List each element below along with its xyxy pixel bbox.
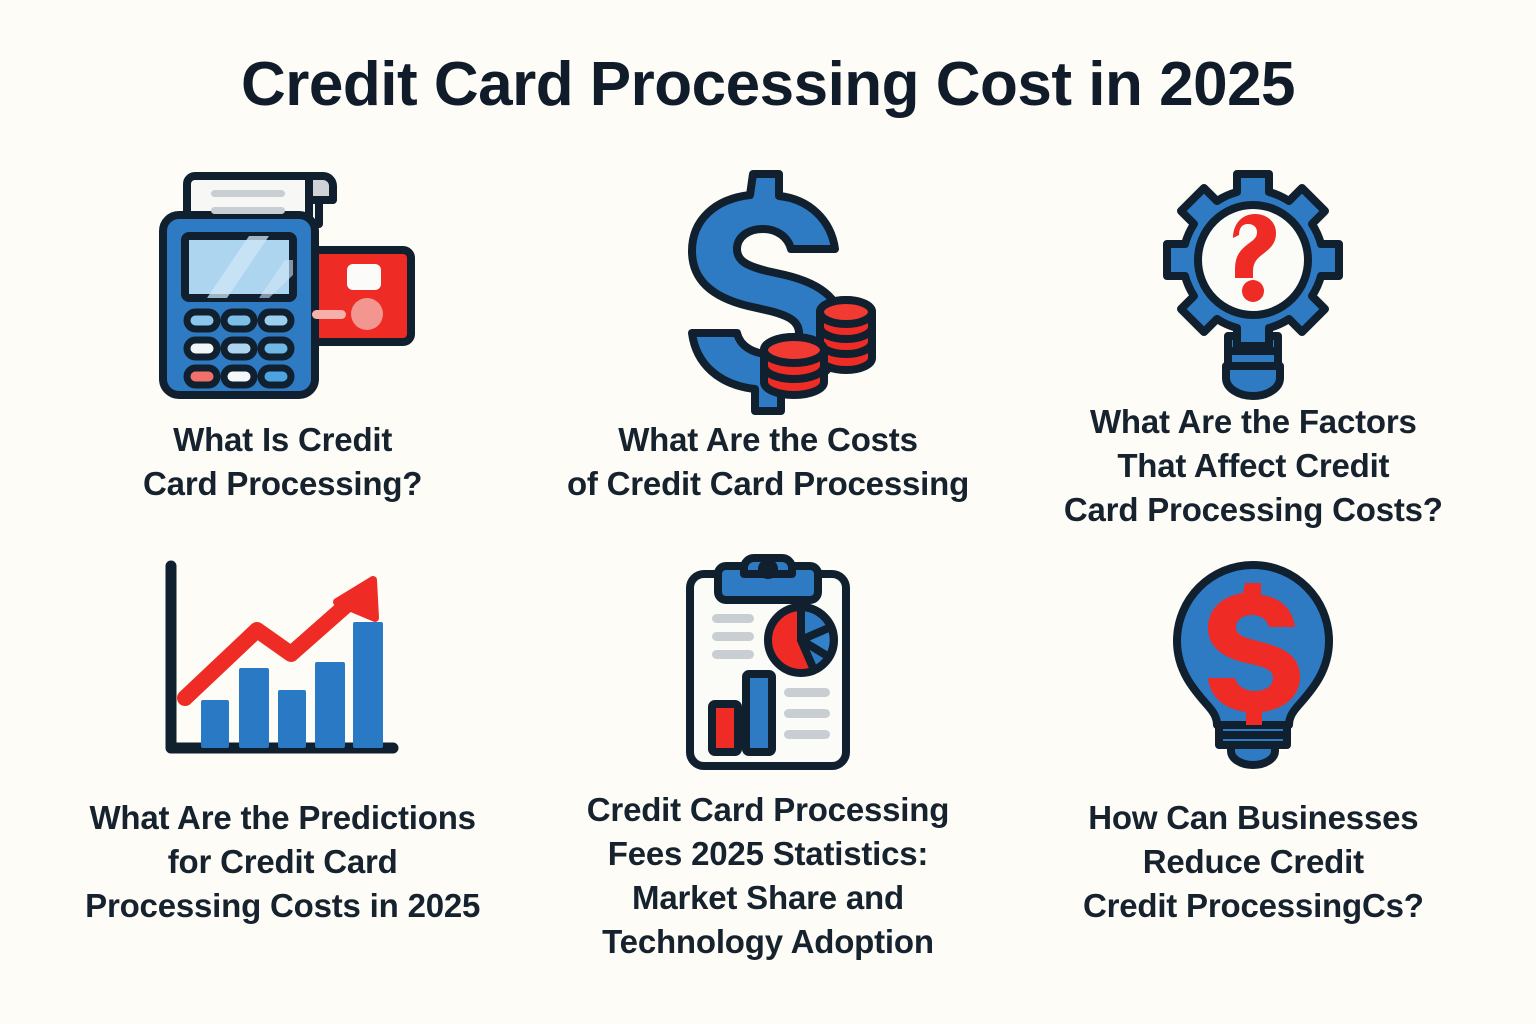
dollar-sign-coins-icon xyxy=(642,160,894,410)
topic-caption: What Are the Costs of Credit Card Proces… xyxy=(567,418,969,506)
caption-line: Technology Adoption xyxy=(587,920,949,964)
topic-card-what-is-credit-card-processing[interactable]: What Is Credit Card Processing? xyxy=(40,160,525,550)
lightbulb-dollar-sign-icon xyxy=(1161,550,1345,780)
caption-line: Card Processing Costs? xyxy=(1064,488,1443,532)
topic-card-costs-of-credit-card-processing[interactable]: What Are the Costs of Credit Card Proces… xyxy=(525,160,1010,550)
growth-bar-chart-arrow-icon xyxy=(145,550,421,780)
caption-line: Fees 2025 Statistics: xyxy=(587,832,949,876)
infographic-canvas: Credit Card Processing Cost in 2025 xyxy=(0,0,1536,1024)
clipboard-report-pie-chart-icon xyxy=(668,550,868,780)
topic-card-factors-affecting-costs[interactable]: What Are the Factors That Affect Credit … xyxy=(1011,160,1496,550)
pos-terminal-credit-card-icon xyxy=(149,160,417,410)
topic-caption: How Can Businesses Reduce Credit Credit … xyxy=(1083,796,1424,928)
caption-line: Card Processing? xyxy=(143,462,422,506)
caption-line: Reduce Credit xyxy=(1083,840,1424,884)
caption-line: How Can Businesses xyxy=(1083,796,1424,840)
caption-line: That Affect Credit xyxy=(1064,444,1443,488)
topic-card-reduce-costs[interactable]: How Can Businesses Reduce Credit Credit … xyxy=(1011,550,1496,970)
caption-line: What Are the Factors xyxy=(1064,400,1443,444)
caption-line: for Credit Card xyxy=(85,840,480,884)
topic-caption: What Is Credit Card Processing? xyxy=(143,418,422,506)
caption-line: What Are the Costs xyxy=(567,418,969,462)
topic-caption: Credit Card Processing Fees 2025 Statist… xyxy=(587,788,949,964)
caption-line: What Is Credit xyxy=(143,418,422,462)
topic-caption: What Are the Factors That Affect Credit … xyxy=(1064,400,1443,532)
caption-line: What Are the Predictions xyxy=(85,796,480,840)
caption-line: Processing Costs in 2025 xyxy=(85,884,480,928)
page-title: Credit Card Processing Cost in 2025 xyxy=(0,52,1536,117)
gear-lightbulb-question-mark-icon xyxy=(1138,160,1368,410)
caption-line: Market Share and xyxy=(587,876,949,920)
topic-card-predictions-2025[interactable]: What Are the Predictions for Credit Card… xyxy=(40,550,525,970)
caption-line: Credit Card Processing xyxy=(587,788,949,832)
caption-line: Credit ProcessingCs? xyxy=(1083,884,1424,928)
caption-line: of Credit Card Processing xyxy=(567,462,969,506)
topic-caption: What Are the Predictions for Credit Card… xyxy=(85,796,480,928)
topic-grid: What Is Credit Card Processing? xyxy=(40,160,1496,1000)
topic-card-fees-statistics[interactable]: Credit Card Processing Fees 2025 Statist… xyxy=(525,550,1010,970)
